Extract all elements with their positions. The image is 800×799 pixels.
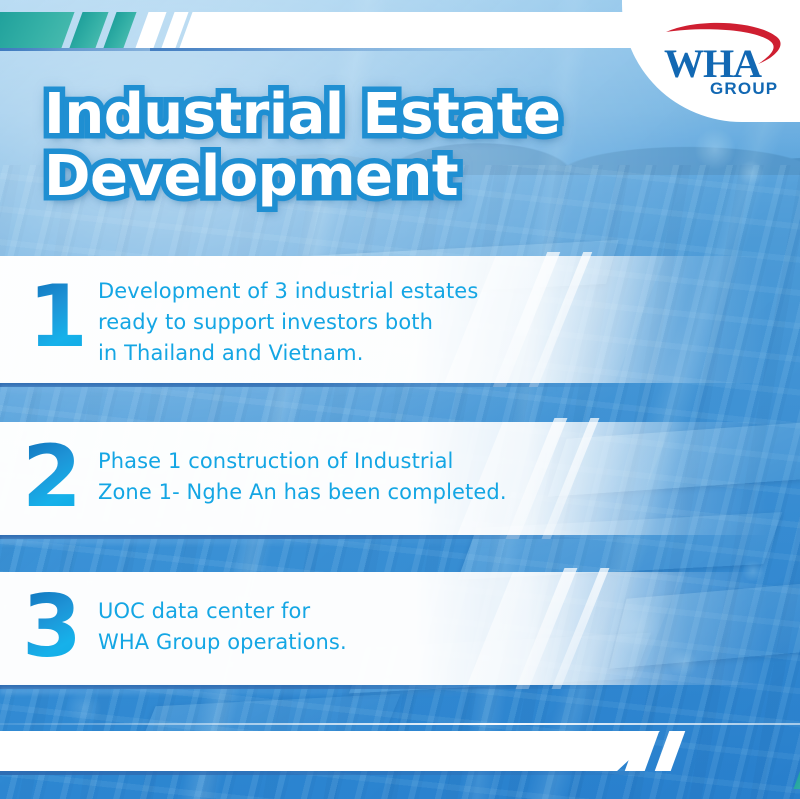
bottom-hairline — [0, 723, 800, 725]
title-line-1-text: Industrial Estate — [44, 82, 560, 147]
list-item: 1 Development of 3 industrial estates re… — [0, 256, 800, 383]
item-number: 1 — [28, 274, 88, 360]
list-item: 3 UOC data center for WHA Group operatio… — [0, 572, 800, 685]
item-text-line: ready to support investors both — [98, 307, 478, 338]
item-text-line: Zone 1- Nghe An has been completed. — [98, 477, 507, 508]
list-item: 2 Phase 1 construction of Industrial Zon… — [0, 422, 800, 535]
item-text-line: UOC data center for — [98, 596, 347, 627]
title-line-1: Industrial Estate Industrial Estate — [44, 84, 604, 146]
item-text: UOC data center for WHA Group operations… — [98, 596, 347, 658]
panel-underline-glow — [0, 386, 560, 392]
logo-subtitle: GROUP — [710, 80, 778, 97]
item-text-line: Development of 3 industrial estates — [98, 276, 478, 307]
item-text: Development of 3 industrial estates read… — [98, 276, 478, 369]
infographic-poster: WHA GROUP Industrial Estate Industrial E… — [0, 0, 800, 799]
item-text: Phase 1 construction of Industrial Zone … — [98, 446, 507, 508]
page-title: Industrial Estate Industrial Estate Deve… — [44, 84, 604, 208]
title-line-2-text: Development — [44, 144, 458, 209]
logo-wordmark: WHA — [664, 44, 761, 84]
panel-underline-glow — [0, 538, 560, 544]
bottom-band-underline — [0, 771, 640, 775]
item-text-line: in Thailand and Vietnam. — [98, 338, 478, 369]
item-text-line: Phase 1 construction of Industrial — [98, 446, 507, 477]
panel-underline-glow — [0, 688, 560, 694]
header-white-strip — [179, 12, 662, 48]
item-text-line: WHA Group operations. — [98, 627, 347, 658]
item-number: 3 — [22, 584, 82, 670]
item-number: 2 — [22, 434, 82, 520]
title-line-2: Development Development — [44, 146, 604, 208]
top-accent-line — [150, 48, 510, 51]
bottom-white-band — [0, 731, 660, 771]
